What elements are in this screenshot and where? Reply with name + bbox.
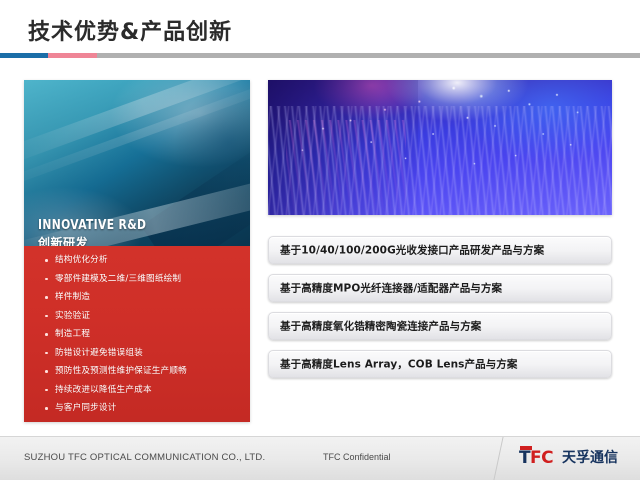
logo-letter-t: T — [519, 450, 531, 467]
list-item: 持续改进以降低生产成本 — [42, 381, 248, 400]
list-item: 样件制造 — [42, 288, 248, 307]
solution-box-label: 基于高精度氧化锆精密陶瓷连接产品与方案 — [280, 319, 481, 334]
footer-divider — [493, 437, 503, 480]
rule-segment-blue — [0, 53, 48, 58]
list-item: 防错设计避免错误组装 — [42, 344, 248, 363]
capability-list-panel: 结构优化分析 零部件建模及二维/三维图纸绘制 样件制造 实验验证 制造工程 防错… — [24, 246, 250, 422]
logo-brand-cn: 天孚通信 — [562, 451, 618, 465]
banner-title-en: INNOVATIVE R&D — [38, 219, 146, 232]
footer-company-name: SUZHOU TFC OPTICAL COMMUNICATION CO., LT… — [24, 452, 265, 463]
capability-list: 结构优化分析 零部件建模及二维/三维图纸绘制 样件制造 实验验证 制造工程 防错… — [42, 251, 248, 418]
slide-header: 技术优势&产品创新 — [0, 0, 640, 52]
banner-title-cn: 创新研发 — [38, 237, 88, 246]
logo-letters-fc: FC — [530, 450, 553, 467]
footer-confidential-label: TFC Confidential — [323, 452, 391, 462]
tfc-logo: T FC 天孚通信 — [519, 448, 629, 470]
rule-segment-pink — [48, 53, 97, 58]
rnd-banner-image: INNOVATIVE R&D 创新研发 国际化人才团队、对产品应用的深刻理解，创… — [24, 80, 250, 246]
slide: 技术优势&产品创新 INNOVATIVE R&D 创新研发 国际化人才团队、对产… — [0, 0, 640, 479]
solution-box[interactable]: 基于10/40/100/200G光收发接口产品研发产品与方案 — [268, 236, 612, 264]
solution-box[interactable]: 基于高精度Lens Array，COB Lens产品与方案 — [268, 350, 612, 378]
innovation-card: INNOVATIVE R&D 创新研发 国际化人才团队、对产品应用的深刻理解，创… — [24, 80, 250, 422]
list-item: 与客户同步设计 — [42, 399, 248, 418]
solution-box[interactable]: 基于高精度氧化锆精密陶瓷连接产品与方案 — [268, 312, 612, 340]
fiber-sparkles — [268, 80, 612, 215]
solution-box-list: 基于10/40/100/200G光收发接口产品研发产品与方案 基于高精度MPO光… — [268, 236, 612, 388]
list-item: 零部件建模及二维/三维图纸绘制 — [42, 270, 248, 289]
list-item: 预防性及预测性维护保证生产顺畅 — [42, 362, 248, 381]
title-underline-rule — [0, 53, 640, 58]
page-title: 技术优势&产品创新 — [28, 14, 232, 46]
solution-box-label: 基于高精度MPO光纤连接器/适配器产品与方案 — [280, 281, 502, 296]
list-item: 实验验证 — [42, 307, 248, 326]
list-item: 制造工程 — [42, 325, 248, 344]
fiber-optic-image — [268, 80, 612, 215]
solution-box-label: 基于10/40/100/200G光收发接口产品研发产品与方案 — [280, 243, 544, 258]
solution-box-label: 基于高精度Lens Array，COB Lens产品与方案 — [280, 357, 518, 372]
slide-footer: SUZHOU TFC OPTICAL COMMUNICATION CO., LT… — [0, 436, 640, 480]
solution-box[interactable]: 基于高精度MPO光纤连接器/适配器产品与方案 — [268, 274, 612, 302]
list-item: 结构优化分析 — [42, 251, 248, 270]
